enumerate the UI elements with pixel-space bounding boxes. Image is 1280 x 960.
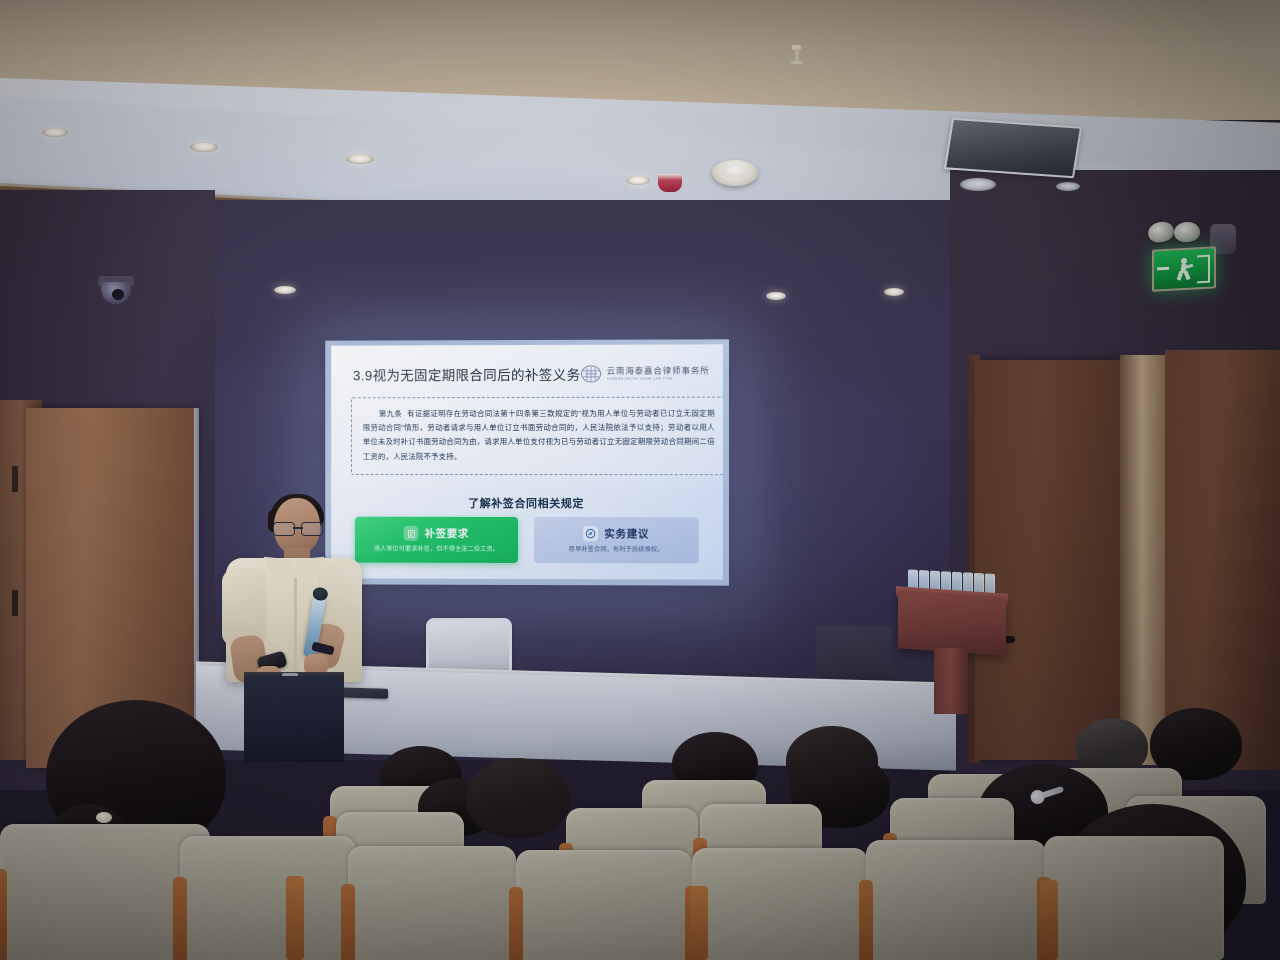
auditorium-seat[interactable] (866, 840, 1046, 960)
hair-tie (96, 812, 112, 823)
law-firm-logo: 云南海泰嘉合律师事务所 YUNNAN HAITAI JIAHE LAW FIRM (581, 364, 710, 384)
card-title: 实务建议 (604, 526, 649, 541)
ceiling-downlight-icon (626, 176, 650, 185)
auditorium-seat[interactable] (516, 850, 692, 960)
running-man-icon (1177, 258, 1191, 281)
card-subtitle: 尽早补签合同，有利于后续维权。 (569, 544, 664, 553)
seat-armrest (1040, 880, 1058, 960)
exit-door-icon (1197, 255, 1210, 284)
legal-quote-box: 第九条 有证据证明存在劳动合同法第十四条第三款规定的"视为用人单位与劳动者已订立… (351, 397, 723, 475)
ceiling-downlight-icon (42, 128, 68, 137)
audience-area (0, 700, 1280, 960)
door-hinge (12, 590, 18, 616)
sprinkler-head-icon (792, 45, 801, 67)
presentation-slide: 3.9视为无固定期限合同后的补签义务 云南海泰嘉合律师事务所 YUNNAN HA… (331, 344, 723, 579)
smoke-detector-icon (712, 160, 758, 186)
logo-name-en: YUNNAN HAITAI JIAHE LAW FIRM (607, 377, 710, 380)
shirt-placket (294, 578, 297, 678)
card-shiwu-jianyi[interactable]: 实务建议 尽早补签合同，有利于后续维权。 (534, 517, 699, 563)
audience-head (466, 758, 570, 838)
ceiling-downlight-icon (190, 142, 218, 152)
ceiling-downlight-icon (346, 154, 374, 164)
seat-armrest (690, 886, 708, 960)
logo-emblem-icon (581, 364, 603, 384)
wooden-podium (898, 592, 1006, 656)
conference-room-photo: 3.9视为无固定期限合同后的补签义务 云南海泰嘉合律师事务所 YUNNAN HA… (0, 0, 1280, 960)
ceiling-downlight-icon (766, 292, 786, 300)
shirt-sleeve-left (222, 568, 266, 646)
auditorium-seat[interactable] (348, 846, 516, 960)
door-hinge (12, 466, 18, 492)
projection-screen: 3.9视为无固定期限合同后的补签义务 云南海泰嘉合律师事务所 YUNNAN HA… (325, 339, 729, 585)
cctv-dome-camera-icon (98, 276, 134, 306)
article-label: 第九条 (379, 409, 402, 418)
section-heading: 了解补签合同相关规定 (331, 495, 723, 511)
slide-title: 3.9视为无固定期限合同后的补签义务 (353, 364, 581, 385)
fire-alarm-bell-icon (658, 174, 682, 192)
card-title: 补签要求 (425, 526, 469, 541)
emergency-twin-light-icon (1148, 222, 1212, 248)
compass-icon (583, 526, 598, 541)
exit-arrow-icon (1157, 267, 1169, 271)
eyeglasses-icon (272, 522, 324, 535)
seat-armrest (286, 876, 304, 960)
ceiling-speaker-icon (960, 178, 996, 191)
ceiling-speaker-icon (1056, 182, 1080, 191)
auditorium-seat[interactable] (692, 848, 868, 960)
document-list-icon (404, 526, 419, 541)
slide-header: 3.9视为无固定期限合同后的补签义务 云南海泰嘉合律师事务所 YUNNAN HA… (353, 358, 709, 389)
logo-name-cn: 云南海泰嘉合律师事务所 (607, 367, 710, 376)
air-vent-icon (944, 118, 1082, 179)
auditorium-seat[interactable] (180, 836, 356, 960)
auditorium-seat[interactable] (1044, 836, 1224, 960)
ceiling-downlight-icon (884, 288, 904, 296)
article-body: 有证据证明存在劳动合同法第十四条第三款规定的"视为用人单位与劳动者已订立无固定期… (363, 409, 715, 461)
card-subtitle: 用人单位可要求补签，但不得主张二倍工资。 (374, 544, 499, 553)
ceiling-downlight-icon (274, 286, 296, 294)
exit-sign (1152, 246, 1216, 291)
legal-quote-text: 第九条 有证据证明存在劳动合同法第十四条第三款规定的"视为用人单位与劳动者已订立… (363, 407, 715, 464)
info-cards: 补签要求 用人单位可要求补签，但不得主张二倍工资。 实务建议 (355, 517, 699, 564)
card-buqian-yaoqiu[interactable]: 补签要求 用人单位可要求补签，但不得主张二倍工资。 (355, 517, 518, 563)
